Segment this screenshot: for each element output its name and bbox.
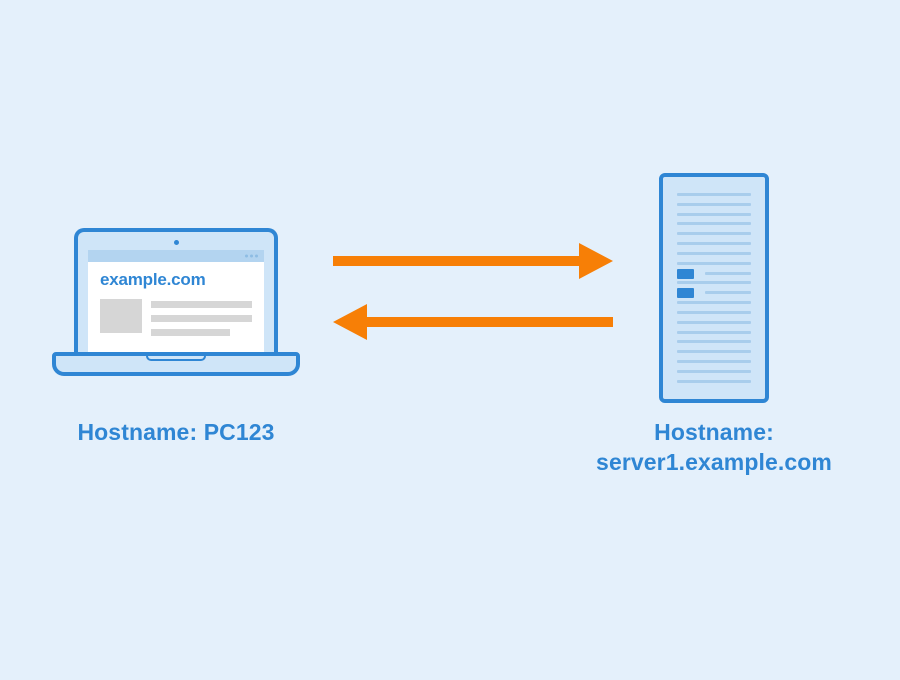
laptop-camera-icon — [174, 240, 179, 245]
server-vent-row — [677, 252, 751, 255]
browser-page-content: example.com — [88, 262, 264, 356]
server-vent-row — [677, 331, 751, 334]
server-vent-line — [677, 203, 751, 206]
server-vent-rows — [677, 193, 751, 383]
server-vent-line — [677, 331, 751, 334]
browser-chrome-bar — [88, 250, 264, 262]
server-vent-line — [677, 380, 751, 383]
server-chassis — [659, 173, 769, 403]
placeholder-line — [151, 315, 252, 322]
server-vent-line — [677, 301, 751, 304]
server-vent-row — [677, 350, 751, 353]
server-vent-line — [677, 311, 751, 314]
server-vent-row — [677, 380, 751, 383]
server-hostname-text-line2: server1.example.com — [596, 449, 832, 475]
site-title: example.com — [100, 271, 252, 288]
server-vent-row — [677, 272, 751, 275]
server-hostname-text-line1: Hostname: — [654, 419, 774, 445]
server-vent-line — [677, 281, 751, 284]
server-led-indicator — [677, 269, 694, 279]
laptop-trackpad-notch — [146, 356, 206, 361]
client-hostname-label: Hostname: PC123 — [26, 417, 326, 447]
server-vent-row — [677, 321, 751, 324]
server-vent-row — [677, 213, 751, 216]
server-vent-row — [677, 222, 751, 225]
server-vent-line — [677, 232, 751, 235]
server-vent-line — [677, 370, 751, 373]
placeholder-line — [151, 301, 252, 308]
server-vent-line — [677, 222, 751, 225]
server-vent-row — [677, 360, 751, 363]
server-vent-line — [677, 350, 751, 353]
page-thumbnail-placeholder — [100, 299, 142, 333]
server-vent-line — [677, 340, 751, 343]
server-vent-row — [677, 262, 751, 265]
server-hostname-label: Hostname: server1.example.com — [564, 417, 864, 478]
server-vent-row — [677, 370, 751, 373]
server-vent-row — [677, 281, 751, 284]
page-text-placeholder-lines — [151, 299, 252, 336]
server-vent-row — [677, 340, 751, 343]
server-vent-line — [677, 242, 751, 245]
request-arrow-client-to-server — [333, 243, 613, 279]
server-vent-line — [677, 252, 751, 255]
server-vent-row — [677, 301, 751, 304]
server-led-indicator — [677, 288, 694, 298]
server-vent-line — [677, 213, 751, 216]
laptop-base — [52, 352, 300, 376]
server-vent-row — [677, 242, 751, 245]
server-tower-illustration — [659, 173, 769, 403]
browser-menu-dots-icon — [245, 255, 258, 258]
page-body — [100, 299, 252, 336]
diagram-canvas: example.com — [0, 0, 900, 680]
server-vent-line — [677, 193, 751, 196]
response-arrow-server-to-client — [333, 304, 613, 340]
server-vent-row — [677, 232, 751, 235]
client-laptop-illustration: example.com — [52, 228, 300, 380]
server-vent-line — [705, 272, 751, 275]
browser-window: example.com — [88, 250, 264, 356]
server-vent-line — [705, 291, 751, 294]
server-vent-row — [677, 311, 751, 314]
laptop-lid: example.com — [74, 228, 278, 356]
server-vent-line — [677, 321, 751, 324]
server-vent-line — [677, 360, 751, 363]
server-vent-row — [677, 203, 751, 206]
placeholder-line — [151, 329, 230, 336]
server-vent-row — [677, 193, 751, 196]
server-vent-row — [677, 291, 751, 294]
client-hostname-text: Hostname: PC123 — [77, 419, 274, 445]
server-vent-line — [677, 262, 751, 265]
